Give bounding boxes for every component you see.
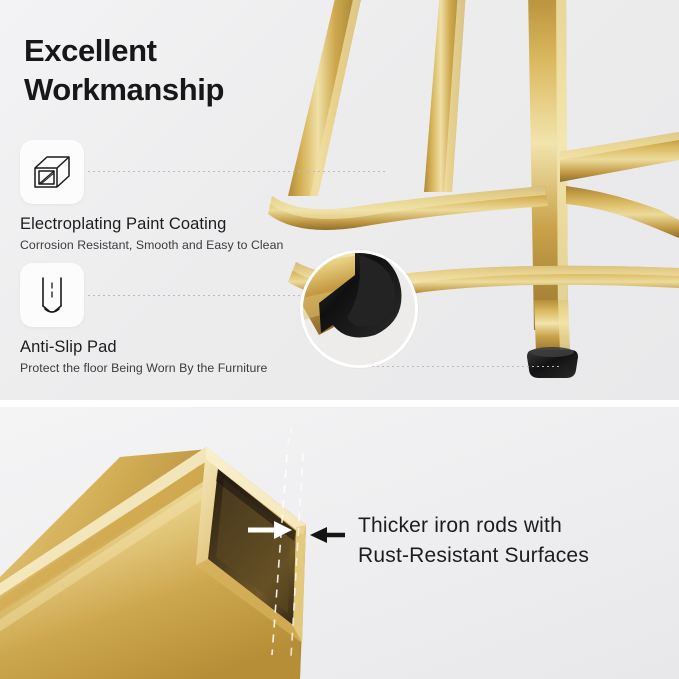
icon-container-square-tube [20,140,84,204]
page-title: Excellent Workmanship [24,31,354,110]
thickness-arrow-black [310,527,345,543]
connector-line-magnifier [352,366,560,367]
magnifier-anti-slip-pad [300,250,418,368]
top-panel: Excellent Workmanship [0,0,679,400]
feature-electroplating: Electroplating Paint Coating Corrosion R… [20,140,340,252]
feature-title: Electroplating Paint Coating [20,215,340,234]
feature-anti-slip: Anti-Slip Pad Protect the floor Being Wo… [20,263,340,375]
furniture-leg-pad-icon [32,274,72,316]
panel-divider [0,400,679,407]
feature-title: Anti-Slip Pad [20,338,340,357]
feature-subtitle: Corrosion Resistant, Smooth and Easy to … [20,238,340,252]
square-tube-icon [31,152,73,192]
magnifier-content [300,250,418,368]
product-feature-graphic: Excellent Workmanship [0,0,679,679]
bottom-panel: Thicker iron rods with Rust-Resistant Su… [0,407,679,679]
icon-container-leg-pad [20,263,84,327]
feature-subtitle: Protect the floor Being Worn By the Furn… [20,361,340,375]
callout-text: Thicker iron rods with Rust-Resistant Su… [358,511,658,571]
